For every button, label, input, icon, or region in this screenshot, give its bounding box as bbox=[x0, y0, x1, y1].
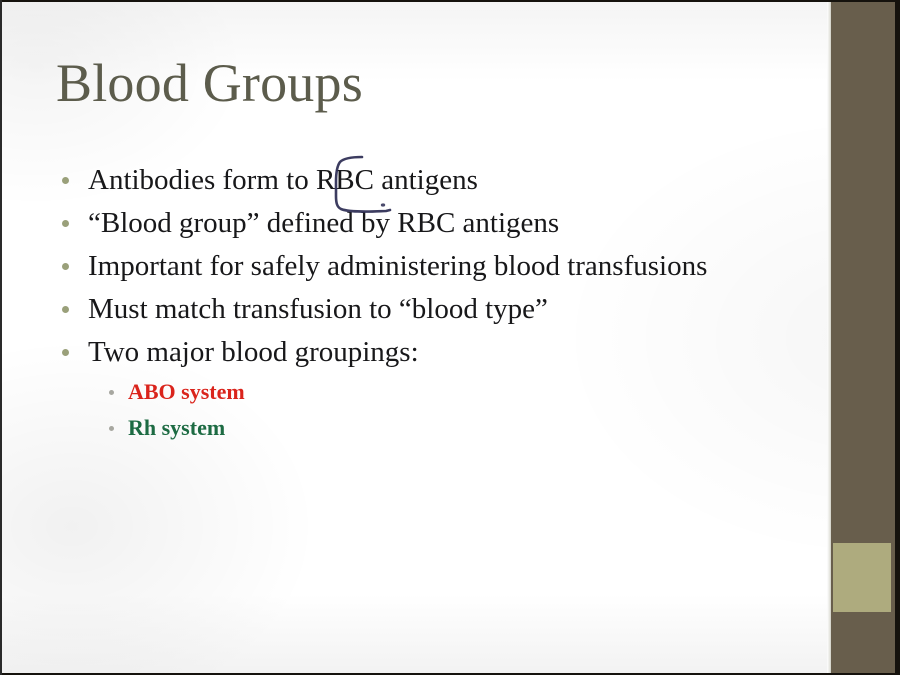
bullet-marker-icon bbox=[62, 177, 69, 184]
list-item: Two major blood groupings: bbox=[62, 332, 802, 375]
sub-bullet-marker-icon bbox=[109, 390, 114, 395]
bullet-marker-icon bbox=[62, 220, 69, 227]
list-item-label: Two major blood groupings: bbox=[88, 332, 419, 372]
bullet-list: Antibodies form to RBC antigens “Blood g… bbox=[62, 160, 802, 447]
bullet-marker-icon bbox=[62, 263, 69, 270]
list-item: Antibodies form to RBC antigens bbox=[62, 160, 802, 203]
sub-list-item-abo: ABO system bbox=[62, 375, 802, 411]
list-item-label: “Blood group” defined by RBC antigens bbox=[88, 203, 559, 243]
list-item: Must match transfusion to “blood type” bbox=[62, 289, 802, 332]
list-item-label: Must match transfusion to “blood type” bbox=[88, 289, 548, 329]
sub-list-item-label: Rh system bbox=[128, 411, 225, 445]
list-item-label: Important for safely administering blood… bbox=[88, 246, 707, 286]
bullet-marker-icon bbox=[62, 306, 69, 313]
sub-bullet-marker-icon bbox=[109, 426, 114, 431]
sub-list-item-label: ABO system bbox=[128, 375, 245, 409]
presentation-slide: Blood Groups Antibodies form to RBC anti… bbox=[0, 0, 900, 675]
frame-edge-right bbox=[895, 0, 900, 675]
page-title: Blood Groups bbox=[56, 55, 363, 112]
list-item-label: Antibodies form to RBC antigens bbox=[88, 160, 478, 200]
frame-edge-left bbox=[0, 0, 2, 675]
sub-list-item-rh: Rh system bbox=[62, 411, 802, 447]
list-item: Important for safely administering blood… bbox=[62, 246, 802, 289]
sidebar-accent-block bbox=[833, 543, 891, 612]
list-item: “Blood group” defined by RBC antigens bbox=[62, 203, 802, 246]
frame-edge-top bbox=[0, 0, 900, 2]
bullet-marker-icon bbox=[62, 349, 69, 356]
